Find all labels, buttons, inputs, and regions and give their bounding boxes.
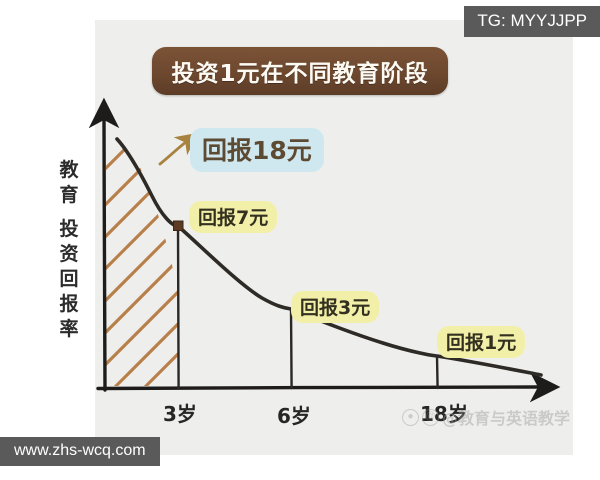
page-title: 投资1元在不同教育阶段 xyxy=(171,54,428,88)
infographic-title-plate: 投资1元在不同教育阶段 xyxy=(152,47,448,95)
telegram-badge: TG: MYYJJPP xyxy=(464,6,600,37)
callout-return-1: 回报1元 xyxy=(437,326,525,358)
website-badge: www.zhs-wcq.com xyxy=(0,437,160,466)
at-sign-icon: @ xyxy=(422,409,439,426)
weibo-watermark: ● @ @教育与英语教学 xyxy=(402,405,570,429)
telegram-badge-text: TG: MYYJJPP xyxy=(477,11,587,31)
y-axis-char-0: 教 xyxy=(52,158,86,183)
y-axis-char-5: 报 xyxy=(52,292,86,317)
y-axis-char-3: 资 xyxy=(52,242,86,267)
weibo-watermark-text: @教育与英语教学 xyxy=(442,405,570,429)
x-tick-label-age-6: 6岁 xyxy=(277,400,311,429)
y-axis-char-2: 投 xyxy=(52,217,86,242)
callout-return-7: 回报7元 xyxy=(189,201,277,233)
callout-return-18: 回报18元 xyxy=(190,128,324,172)
y-axis-char-4: 回 xyxy=(52,267,86,292)
callout-return-3: 回报3元 xyxy=(291,291,379,323)
y-axis-char-6: 率 xyxy=(52,317,86,342)
paw-print-icon: ● xyxy=(402,409,419,426)
x-tick-label-age-3: 3岁 xyxy=(163,398,197,427)
y-axis-char-1: 育 xyxy=(52,183,86,208)
y-axis-label: 教 育 投 资 回 报 率 xyxy=(52,158,86,342)
website-badge-text: www.zhs-wcq.com xyxy=(14,442,146,460)
